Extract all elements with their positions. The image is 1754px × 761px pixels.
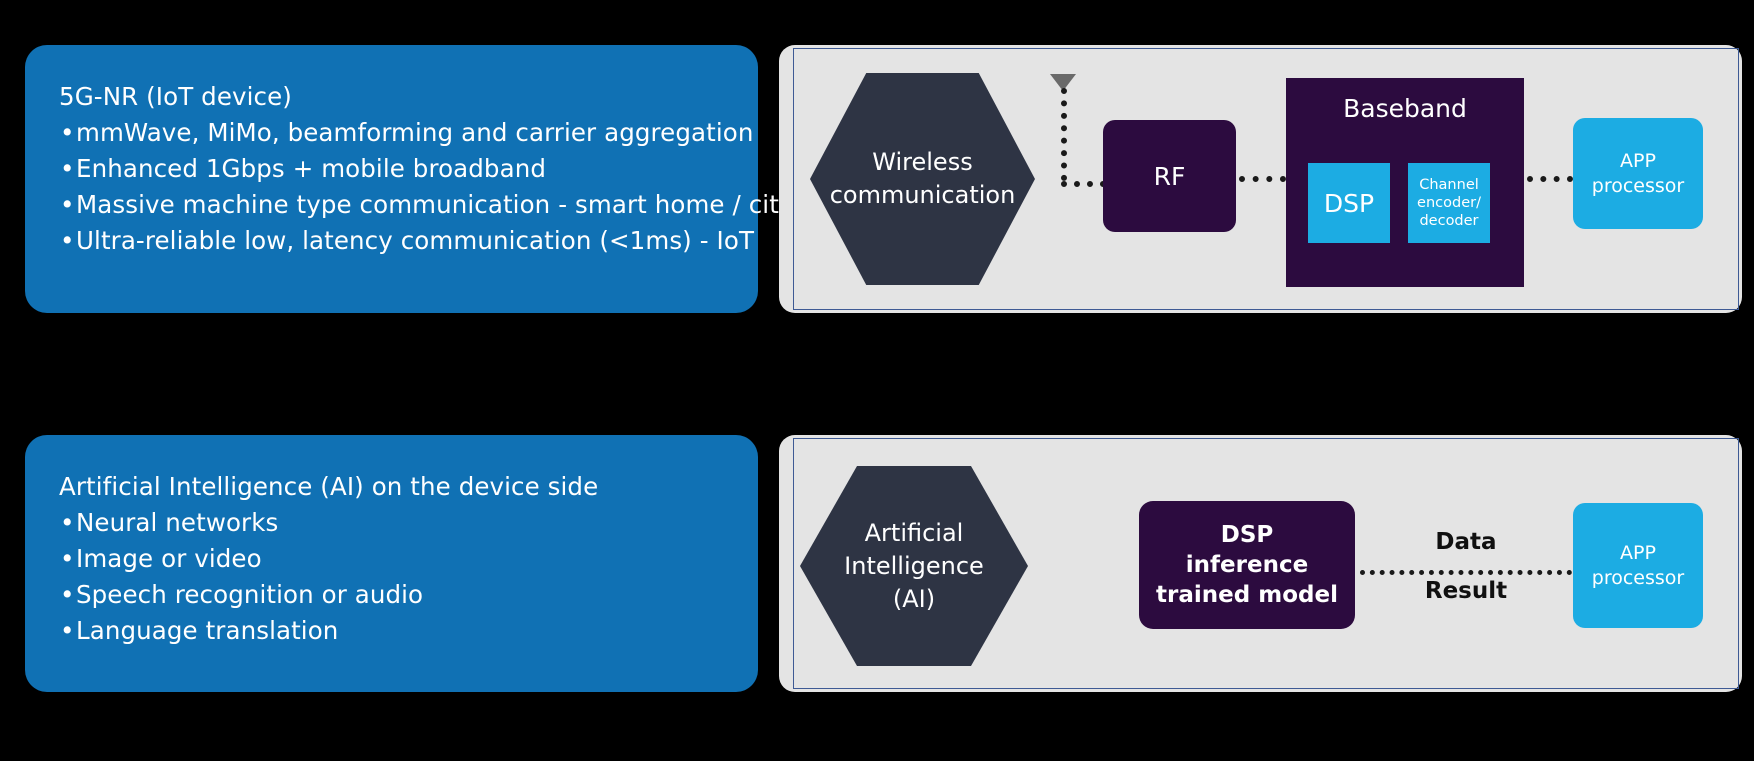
baseband-block: Baseband DSP Channelencoder/decoder	[1286, 78, 1524, 287]
dsp-inference-trained-model-block: DSPinferencetrained model	[1139, 501, 1355, 629]
baseband-title: Baseband	[1286, 94, 1524, 123]
info-box-5g-bullet-list: mmWave, MiMo, beamforming and carrier ag…	[59, 115, 728, 259]
list-item: Ultra-reliable low, latency communicatio…	[59, 223, 728, 259]
channel-encoder-decoder-block: Channelencoder/decoder	[1408, 163, 1490, 243]
connector-dsp-to-app-processor	[1360, 570, 1572, 575]
app-processor-label: APPprocessor	[1592, 149, 1684, 199]
app-processor-block-ai: APPprocessor	[1573, 503, 1703, 628]
list-item: Language translation	[59, 613, 728, 649]
connector-antenna-to-rf	[1061, 181, 1106, 187]
dsp-block: DSP	[1308, 163, 1390, 243]
hexagon-ai-label: ArtificialIntelligence(AI)	[844, 517, 984, 616]
connector-rf-to-baseband	[1239, 176, 1286, 182]
list-item: Neural networks	[59, 505, 728, 541]
list-item: Massive machine type communication - sma…	[59, 187, 728, 223]
connector-antenna-vertical	[1061, 88, 1067, 181]
dsp-label: DSP	[1324, 189, 1374, 218]
app-processor-block-5g: APPprocessor	[1573, 118, 1703, 229]
rf-block: RF	[1103, 120, 1236, 232]
list-item: Speech recognition or audio	[59, 577, 728, 613]
app-processor-label: APPprocessor	[1592, 541, 1684, 591]
connector-baseband-to-app-processor	[1527, 176, 1573, 182]
rf-label: RF	[1154, 162, 1186, 191]
list-item: mmWave, MiMo, beamforming and carrier ag…	[59, 115, 728, 151]
info-box-5g-title: 5G-NR (IoT device)	[59, 79, 728, 115]
flow-label-result: Result	[1360, 578, 1572, 604]
info-box-ai-title: Artificial Intelligence (AI) on the devi…	[59, 469, 728, 505]
flow-label-data: Data	[1360, 529, 1572, 555]
hexagon-wireless-label: Wirelesscommunication	[830, 146, 1016, 212]
dsp-inference-label: DSPinferencetrained model	[1156, 520, 1338, 610]
channel-encoder-decoder-label: Channelencoder/decoder	[1417, 176, 1481, 230]
info-box-artificial-intelligence: Artificial Intelligence (AI) on the devi…	[25, 435, 758, 692]
list-item: Image or video	[59, 541, 728, 577]
info-box-5g-nr: 5G-NR (IoT device) mmWave, MiMo, beamfor…	[25, 45, 758, 313]
info-box-ai-bullet-list: Neural networks Image or video Speech re…	[59, 505, 728, 649]
list-item: Enhanced 1Gbps + mobile broadband	[59, 151, 728, 187]
